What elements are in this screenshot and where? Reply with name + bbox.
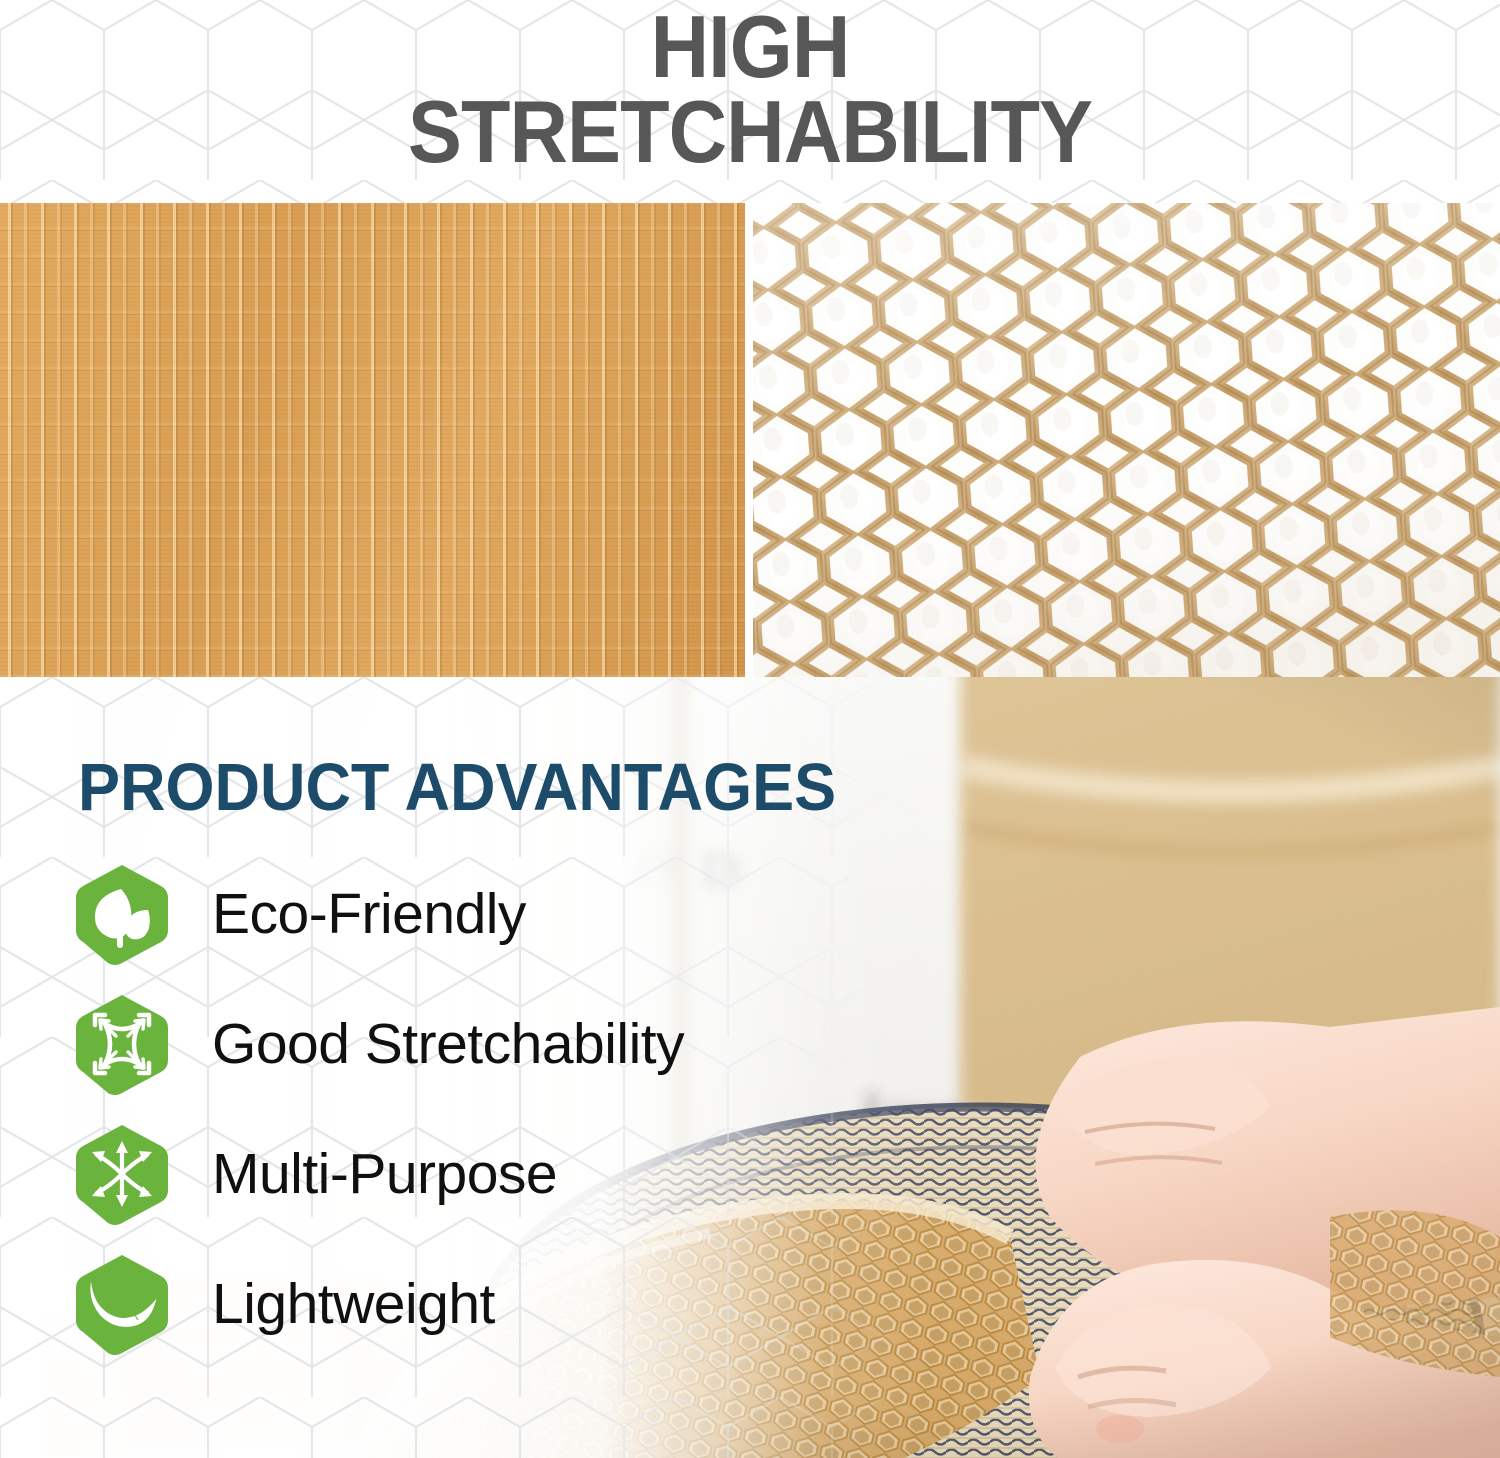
header: HIGH STRETCHABILITY bbox=[0, 0, 1500, 203]
infographic-page: HIGH STRETCHABILITY bbox=[0, 0, 1500, 1458]
leaf-icon bbox=[72, 862, 172, 966]
advantage-label: Eco-Friendly bbox=[212, 886, 526, 943]
texture-comparison-panels bbox=[0, 203, 1500, 677]
feather-icon bbox=[72, 1252, 172, 1356]
advantages-list: Eco-Friendly bbox=[72, 862, 972, 1382]
advantage-item-multi-purpose: Multi-Purpose bbox=[72, 1122, 972, 1226]
arrows-icon bbox=[72, 1122, 172, 1226]
honeycomb-mesh-texture bbox=[753, 203, 1500, 677]
advantages-heading: PRODUCT ADVANTAGES bbox=[78, 749, 836, 826]
unstretched-paper-panel bbox=[0, 203, 745, 677]
page-title: HIGH STRETCHABILITY bbox=[60, 4, 1440, 175]
product-advantages-section: PRODUCT ADVANTAGES Eco-Friendly bbox=[0, 677, 1500, 1458]
advantage-item-eco-friendly: Eco-Friendly bbox=[72, 862, 972, 966]
stretch-icon bbox=[72, 992, 172, 1096]
advantage-item-lightweight: Lightweight bbox=[72, 1252, 972, 1356]
advantage-label: Multi-Purpose bbox=[212, 1146, 557, 1203]
advantage-item-good-stretchability: Good Stretchability bbox=[72, 992, 972, 1096]
stretched-mesh-panel bbox=[753, 203, 1500, 677]
kraft-honeycomb-texture bbox=[0, 203, 745, 677]
advantage-label: Lightweight bbox=[212, 1276, 495, 1333]
advantage-label: Good Stretchability bbox=[212, 1016, 684, 1073]
